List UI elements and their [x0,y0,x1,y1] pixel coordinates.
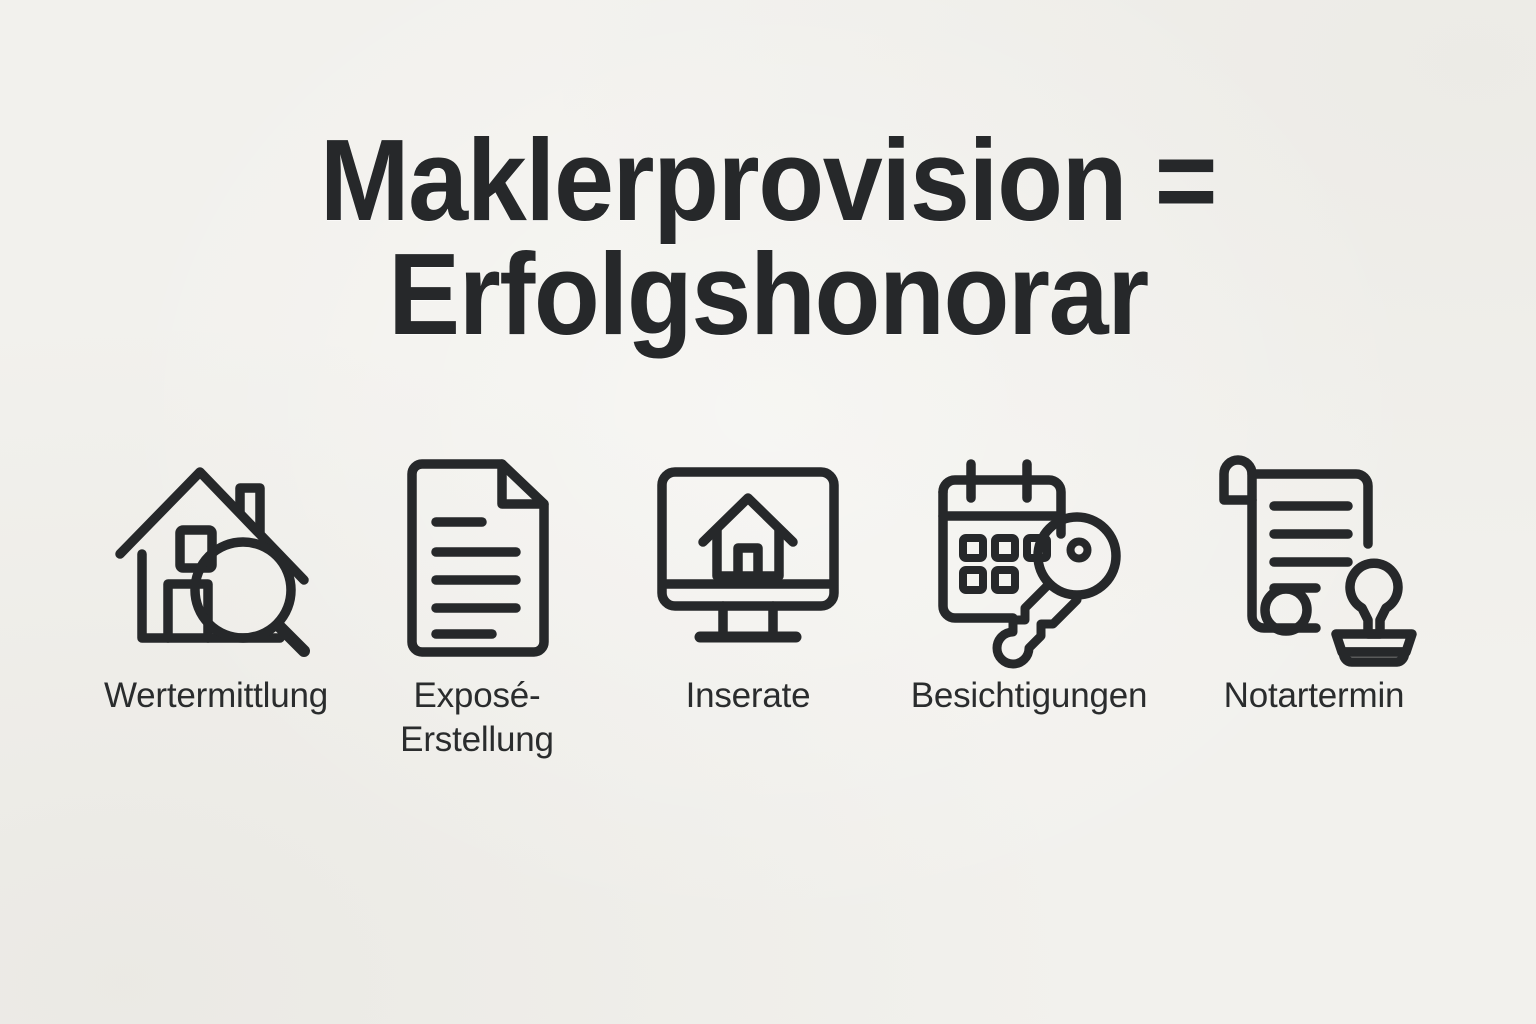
process-step-label: Wertermittlung [104,674,328,718]
process-step-expose-erstellung[interactable]: Exposé- Erstellung [351,452,603,762]
process-step-label: Inserate [686,674,811,718]
process-step-notartermin[interactable]: Notartermin [1188,452,1440,718]
process-step-label: Notartermin [1224,674,1405,718]
process-step-wertermittlung[interactable]: Wertermittlung [90,452,342,718]
infographic-canvas: Maklerprovision = Erfolgshonorar [0,0,1536,1024]
process-steps-row: Wertermittlung Exposé- Erstellung [96,452,1440,762]
document-lines-icon [367,452,587,664]
process-step-inserate[interactable]: Inserate [622,452,874,718]
process-step-label: Exposé- Erstellung [400,674,554,762]
page-title: Maklerprovision = Erfolgshonorar [54,124,1482,351]
process-step-besichtigungen[interactable]: Besichtigungen [903,452,1155,718]
process-step-label: Besichtigungen [911,674,1148,718]
contract-stamp-icon [1204,452,1424,664]
calendar-key-icon [919,452,1139,664]
house-magnifier-icon [106,452,326,664]
monitor-house-icon [638,452,858,664]
